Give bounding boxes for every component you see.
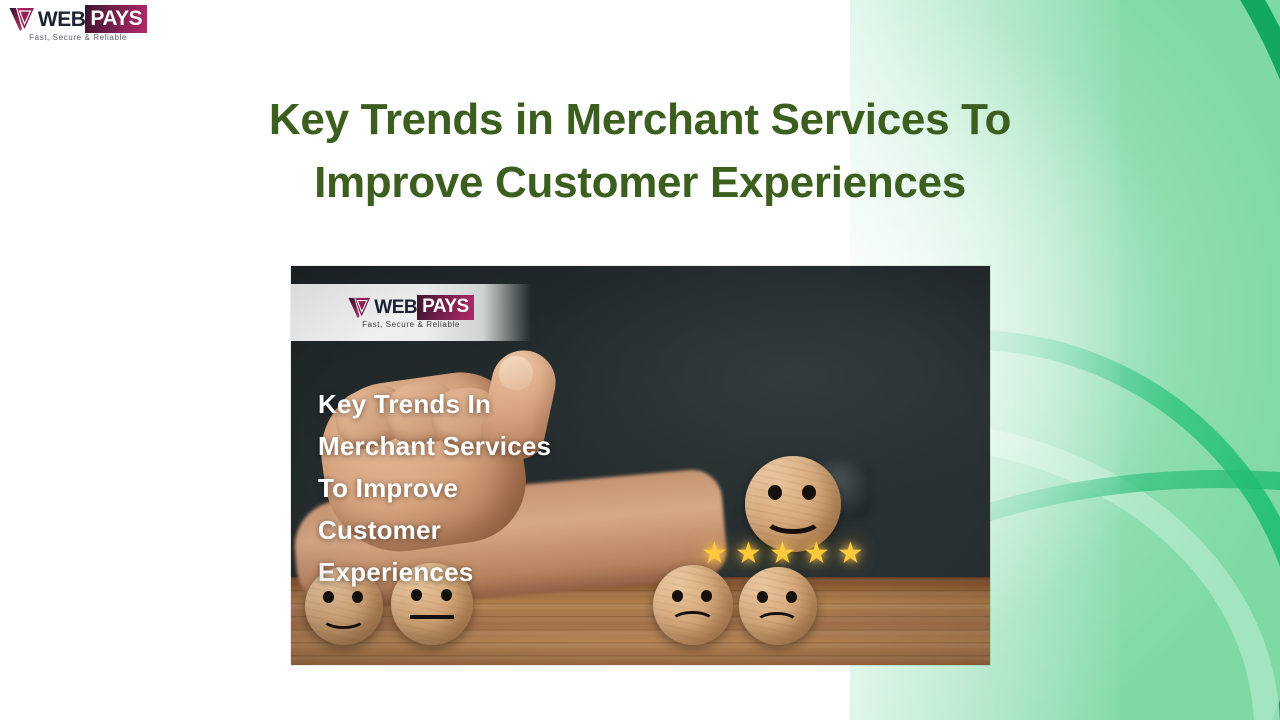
eye-right — [701, 590, 712, 602]
webpays-v-mark-icon — [348, 297, 371, 319]
photo-headline-line-3: To Improve — [318, 467, 551, 509]
photo-brand-logo: WEB PAYS Fast, Secure & Reliable — [291, 284, 531, 341]
photo-headline-line-1: Key Trends In — [318, 383, 551, 425]
brand-web-text: WEB — [38, 7, 86, 32]
photo-brand-pays-text: PAYS — [417, 295, 474, 320]
brand-logo-row: WEB PAYS — [9, 6, 147, 32]
star-icon-3: ★ — [768, 539, 797, 568]
eye-left — [757, 591, 768, 603]
happy-mouth — [321, 605, 366, 629]
photo-headline-line-2: Merchant Services — [318, 425, 551, 467]
sad-face-disc — [653, 565, 733, 645]
star-icon-5: ★ — [836, 539, 865, 568]
eye-left — [672, 590, 683, 602]
star-icon-2: ★ — [734, 539, 763, 568]
eye-left — [768, 485, 782, 500]
eye-right — [786, 591, 797, 603]
photo-headline: Key Trends In Merchant Services To Impro… — [318, 383, 551, 593]
brand-tagline: Fast, Secure & Reliable — [29, 33, 127, 42]
photo-headline-line-5: Experiences — [318, 551, 551, 593]
featured-image: ★ ★ ★ ★ ★ — [291, 266, 990, 665]
neutral-mouth — [410, 615, 454, 619]
star-icon-1: ★ — [700, 539, 729, 568]
photo-brand-web-text: WEB — [374, 297, 417, 319]
smile-mouth — [763, 500, 823, 534]
sad-mouth — [670, 611, 715, 635]
eye-right — [802, 485, 816, 500]
webpays-v-mark-icon — [9, 7, 35, 32]
title-line-2: Improve Customer Experiences — [140, 151, 1140, 214]
brand-logo: WEB PAYS Fast, Secure & Reliable — [8, 2, 148, 46]
title-line-1: Key Trends in Merchant Services To — [140, 88, 1140, 151]
photo-brand-logo-row: WEB PAYS — [348, 297, 473, 319]
page-title: Key Trends in Merchant Services To Impro… — [140, 88, 1140, 214]
very-sad-face-disc — [739, 567, 817, 645]
sad-mouth — [755, 612, 799, 636]
presentation-slide: WEB PAYS Fast, Secure & Reliable Key Tre… — [0, 0, 1280, 720]
photo-brand-tagline: Fast, Secure & Reliable — [362, 320, 460, 329]
photo-headline-line-4: Customer — [318, 509, 551, 551]
star-rating: ★ ★ ★ ★ ★ — [700, 539, 865, 568]
brand-pays-text: PAYS — [85, 5, 147, 33]
star-icon-4: ★ — [802, 539, 831, 568]
